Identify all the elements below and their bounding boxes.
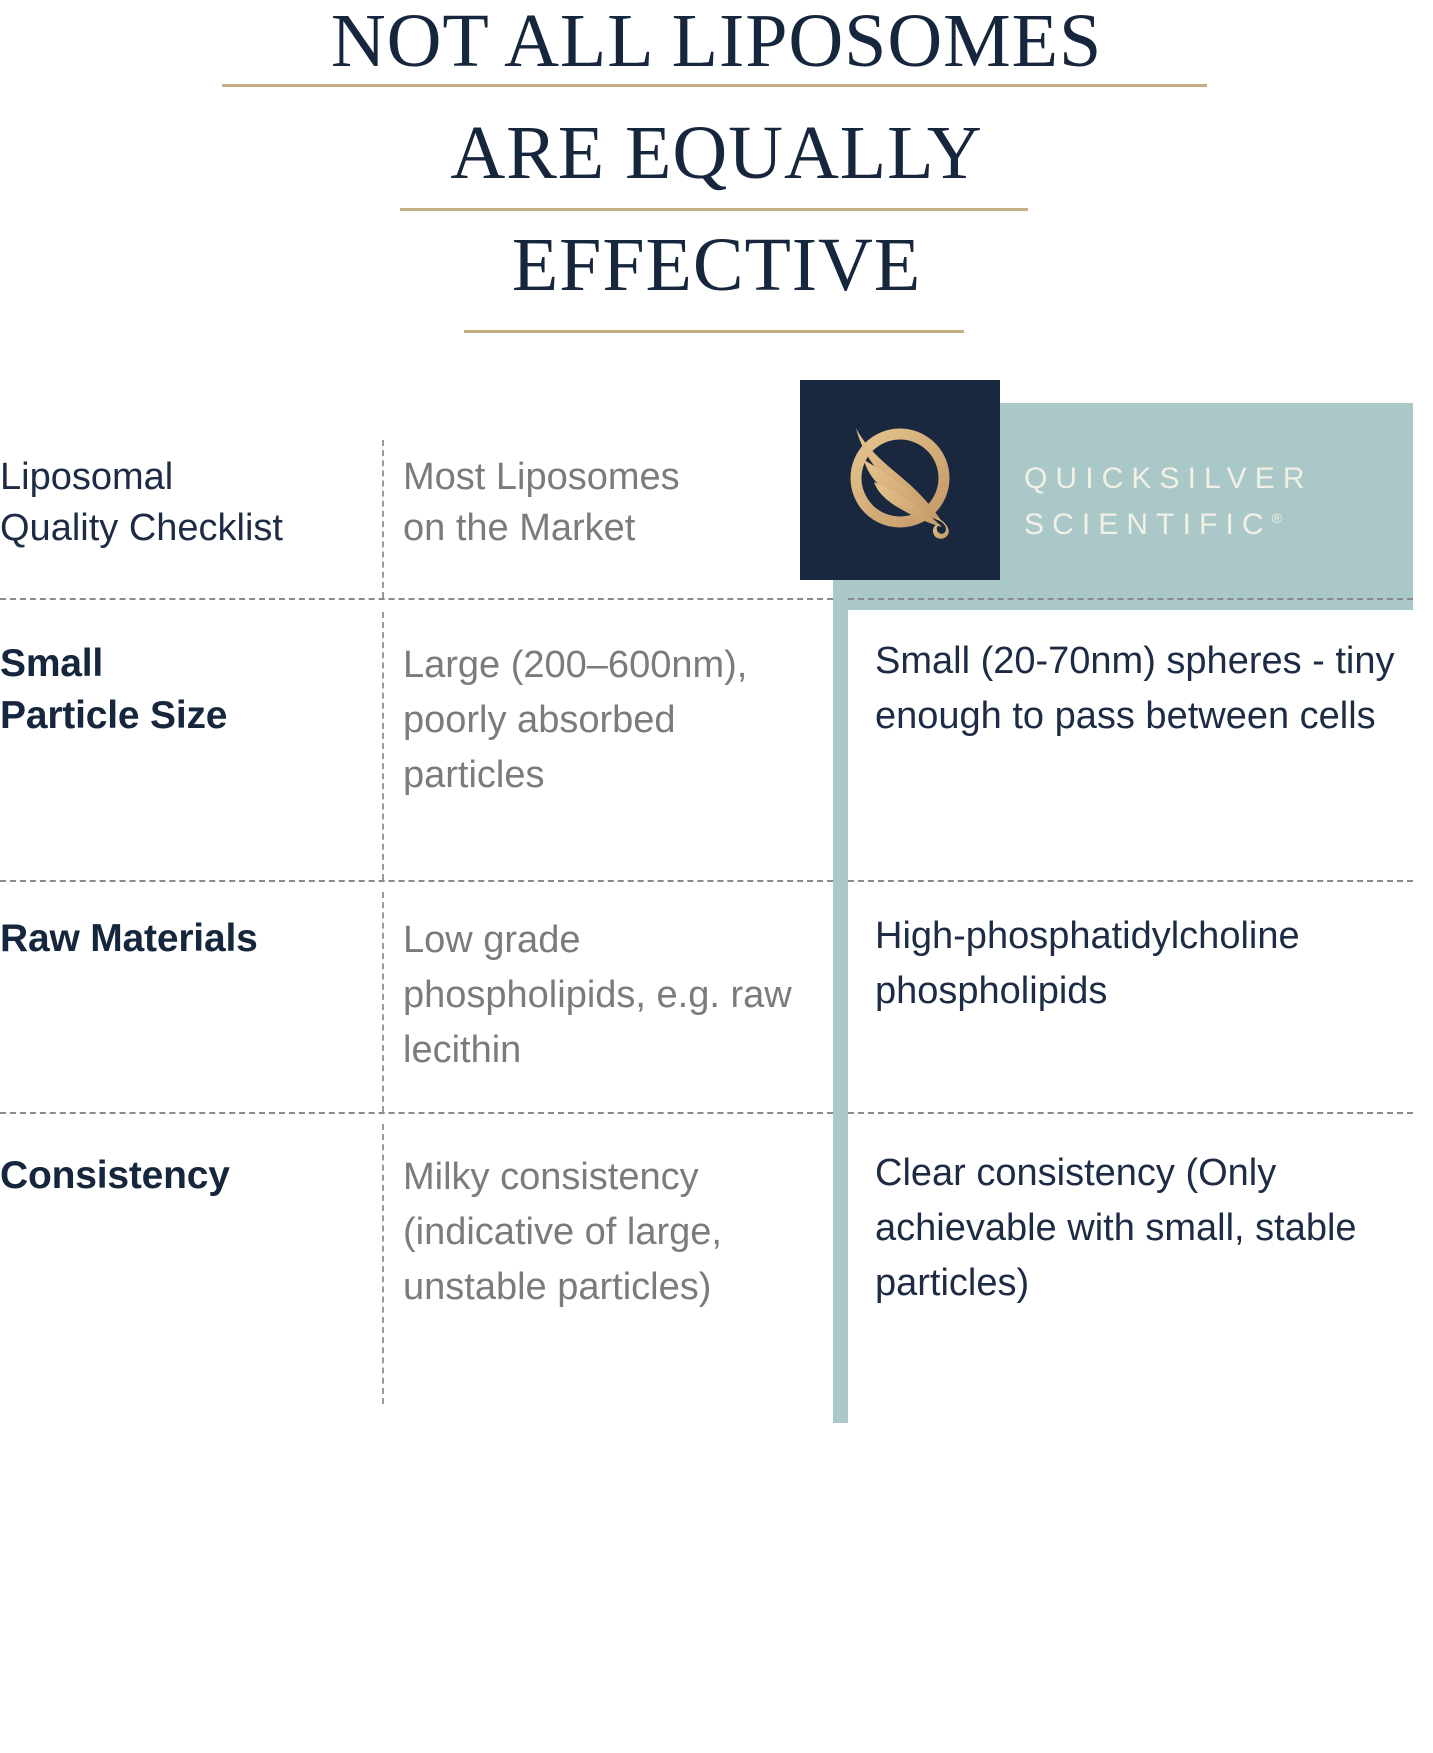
column-divider-row-2: [382, 892, 384, 1112]
row-quicksilver-consistency: Clear consistency (Only achievable with …: [875, 1146, 1405, 1311]
row-market-consistency: Milky consistency (indicative of large, …: [403, 1150, 813, 1315]
comparison-table: QUICKSILVER SCIENTIFIC® Liposomal Qualit…: [0, 380, 1433, 1423]
row-market-raw-materials: Low grade phospholipids, e.g. raw lecith…: [403, 913, 813, 1078]
title-underline-3: [464, 330, 964, 333]
row-divider-2: [0, 1112, 833, 1114]
column-header-checklist: Liposomal Quality Checklist: [0, 452, 375, 554]
row-label-raw-materials: Raw Materials: [0, 913, 375, 965]
row-divider-header-right: [848, 598, 1413, 600]
row-market-small-particle-size: Large (200–600nm), poorly absorbed parti…: [403, 638, 813, 803]
column-divider-row-3: [382, 1124, 384, 1404]
row-divider-2-right: [848, 1112, 1413, 1114]
page-title-line-1: NOT ALL LIPOSOMES: [0, 0, 1433, 85]
column-divider-row-1: [382, 612, 384, 880]
title-underline-2: [400, 208, 1028, 211]
row-quicksilver-raw-materials: High-phosphatidylcholine phospholipids: [875, 909, 1405, 1019]
table-grid: Liposomal Quality Checklist Most Liposom…: [0, 380, 1433, 1423]
row-label-consistency: Consistency: [0, 1150, 375, 1202]
row-divider-1-right: [848, 880, 1413, 882]
page-title-line-2: ARE EQUALLY: [0, 110, 1433, 197]
column-header-market: Most Liposomes on the Market: [403, 452, 813, 554]
column-divider-header: [382, 440, 384, 598]
row-divider-1: [0, 880, 833, 882]
row-divider-header: [0, 598, 833, 600]
row-quicksilver-small-particle-size: Small (20-70nm) spheres - tiny enough to…: [875, 634, 1405, 744]
title-underline-1: [222, 84, 1207, 87]
page-title-block: NOT ALL LIPOSOMES ARE EQUALLY EFFECTIVE: [0, 0, 1433, 360]
page-title-line-3: EFFECTIVE: [0, 222, 1433, 309]
row-label-small-particle-size: Small Particle Size: [0, 638, 375, 742]
